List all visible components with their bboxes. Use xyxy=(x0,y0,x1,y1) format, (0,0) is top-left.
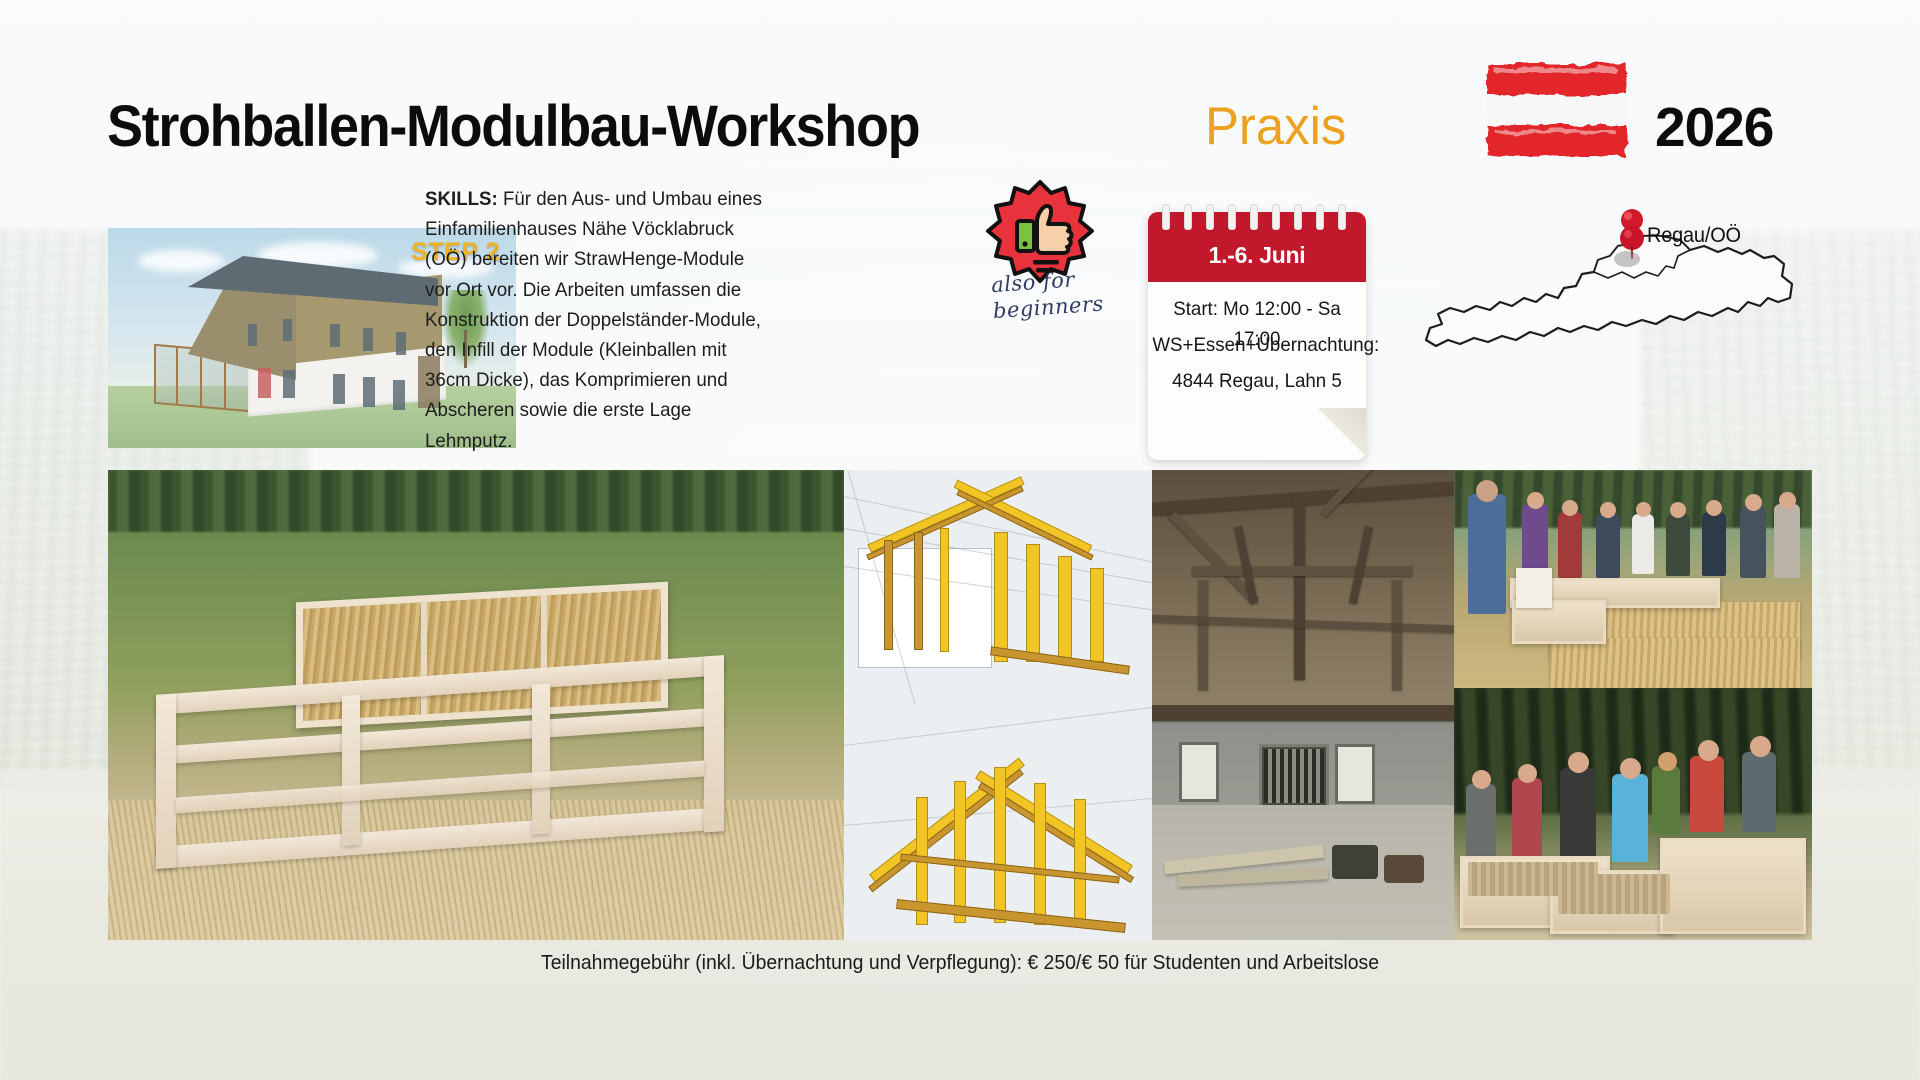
photo-cad-timber-frame-bottom xyxy=(844,705,1152,940)
fee-note: Teilnahmegebühr (inkl. Übernachtung und … xyxy=(29,952,1891,975)
page-title: Strohballen-Modulbau-Workshop xyxy=(107,93,919,160)
map-pin-label: Regau/OÖ xyxy=(1647,224,1741,248)
photo-barn-floor-interior xyxy=(1152,705,1454,940)
austria-flag-icon xyxy=(1482,58,1634,162)
skills-label: SKILLS: xyxy=(425,188,498,210)
photo-group-building-module xyxy=(1454,470,1812,688)
skills-body: Für den Aus- und Umbau eines Einfamilien… xyxy=(425,188,762,452)
photo-strawbale-module-field xyxy=(108,470,844,940)
austria-map-graphic xyxy=(1412,228,1812,378)
calendar-page-fold xyxy=(1312,408,1366,460)
calendar-date: 1.-6. Juni xyxy=(1148,242,1366,269)
praxis-label: Praxis xyxy=(1205,96,1346,157)
header: Strohballen-Modulbau-Workshop Praxis 202… xyxy=(0,0,1920,180)
calendar-card: 1.-6. Juni Start: Mo 12:00 - Sa 17:00 WS… xyxy=(1148,212,1366,460)
calendar-line-includes: WS+Essen+Übernachtung: xyxy=(1152,330,1361,360)
photo-cad-timber-frame-top xyxy=(844,470,1152,705)
photo-column-4 xyxy=(1454,470,1812,940)
photo-column-3 xyxy=(1152,470,1454,940)
photo-group-portrait-crates xyxy=(1454,688,1812,940)
calendar-line-address: 4844 Regau, Lahn 5 xyxy=(1152,366,1361,396)
photo-column-1 xyxy=(108,470,844,940)
year-label: 2026 xyxy=(1655,95,1773,159)
photo-grid xyxy=(108,470,1812,940)
photo-barn-roof-interior xyxy=(1152,470,1454,705)
photo-column-2 xyxy=(844,470,1152,940)
skills-paragraph: SKILLS: Für den Aus- und Umbau eines Ein… xyxy=(425,184,772,456)
beginners-handwriting: also for beginners xyxy=(990,264,1113,324)
